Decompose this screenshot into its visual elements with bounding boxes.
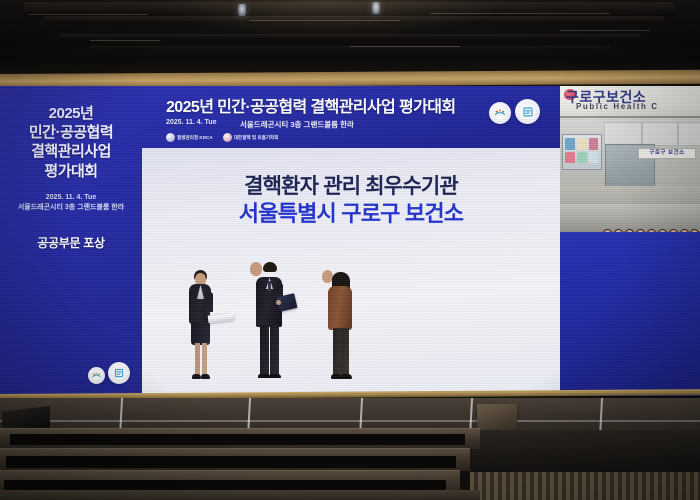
- hair: [263, 262, 277, 272]
- emblem-badge-blue-icon: [108, 362, 130, 384]
- emblem-badge-color-icon: [88, 367, 105, 384]
- left-panel-subinfo: 2025. 11. 4. Tue 서울드래곤시티 3층 그랜드볼룸 한라: [0, 193, 142, 214]
- floor-marking-line: [0, 420, 700, 422]
- led-banner-strip: 2025년 민간·공공협력 결핵관리사업 평가대회 2025. 11. 4. T…: [142, 86, 560, 148]
- notice-poster: [577, 138, 587, 150]
- hand: [276, 300, 281, 305]
- leg: [333, 328, 341, 376]
- notice-poster: [565, 138, 575, 150]
- banner-badge-group: [489, 99, 540, 124]
- light-glow: [150, 0, 510, 40]
- rigging-cable: [90, 40, 160, 41]
- led-main-screen: 결핵환자 관리 최우수기관 서울특별시 구로구 보건소: [142, 148, 560, 396]
- health-center-photo: 구로구 보건소: [560, 86, 700, 232]
- emblem-badge-blue-icon: [515, 99, 540, 124]
- shoe: [201, 374, 210, 379]
- emblem-badge-color-icon: [489, 102, 511, 124]
- stage-skirt-drape: [470, 430, 700, 478]
- person-award-presenter: [250, 262, 290, 388]
- wall-panel: [642, 122, 678, 146]
- skirt: [191, 322, 210, 345]
- health-center-signboard: 구로구보건소 Public Health C: [560, 86, 700, 118]
- rigging-cable: [28, 14, 148, 15]
- notice-poster: [589, 152, 598, 163]
- award-recipient-text: 서울특별시 구로구 보건소: [142, 200, 560, 228]
- necktie: [268, 281, 271, 291]
- led-left-panel: 2025년 민간·공공협력 결핵관리사업 평가대회 2025. 11. 4. T…: [0, 86, 142, 396]
- head: [250, 262, 262, 276]
- leg: [270, 325, 279, 376]
- organizer-kdca: 질병관리청 KDCA: [166, 133, 213, 142]
- shoe: [341, 374, 352, 379]
- left-panel-title-line: 2025년: [6, 104, 136, 123]
- left-panel-title-line: 민간·공공협력: [6, 123, 136, 142]
- leg: [341, 328, 349, 376]
- entrance-sub-sign: 구로구 보건소: [638, 148, 696, 159]
- stage-ceremony-scene: 2025년 민간·공공협력 결핵관리사업 평가대회 2025. 11. 4. T…: [0, 0, 700, 500]
- kdca-logo-icon: [166, 133, 175, 142]
- leg: [195, 343, 200, 376]
- shoe: [269, 374, 281, 378]
- notice-poster: [577, 152, 587, 163]
- step-riser-gap: [10, 434, 465, 445]
- award-category-text: 결핵환자 관리 최우수기관: [142, 174, 560, 199]
- floor-grating: [470, 472, 700, 500]
- organizer-label: 질병관리청 KDCA: [177, 135, 213, 140]
- left-panel-title: 2025년 민간·공공협력 결핵관리사업 평가대회: [0, 104, 142, 181]
- notice-poster: [565, 152, 575, 163]
- banner-venue: 서울드래곤시티 3층 그랜드볼룸 한라: [240, 119, 354, 130]
- ktrs-logo-icon: [223, 133, 232, 142]
- left-panel-badge-group: [88, 362, 130, 384]
- organizer-label: 대한결핵 및 호흡기학회: [234, 135, 279, 140]
- ceiling: [0, 0, 700, 62]
- organizer-ktrs: 대한결핵 및 호흡기학회: [223, 133, 279, 142]
- leg: [260, 325, 269, 376]
- left-panel-title-line: 결핵관리사업: [6, 142, 136, 161]
- equipment-case: [477, 404, 517, 430]
- left-panel-venue: 서울드래곤시티 3층 그랜드볼룸 한라: [4, 203, 138, 214]
- rigging-cable: [560, 30, 650, 31]
- person-award-recipient: [322, 270, 358, 388]
- signboard-english-text: Public Health C: [576, 102, 659, 111]
- led-video-wall: 2025년 민간·공공협력 결핵관리사업 평가대회 2025. 11. 4. T…: [0, 86, 700, 396]
- right-panel-blue-fill: [560, 232, 700, 396]
- entrance-steps: [560, 204, 700, 232]
- banner-title: 2025년 민간·공공협력 결핵관리사업 평가대회: [166, 93, 456, 117]
- left-panel-award-section: 공공부문 포상: [0, 234, 142, 251]
- person-presenter-assistant: [182, 270, 218, 386]
- wall-panel: [678, 122, 700, 146]
- left-panel-title-line: 평가대회: [6, 162, 136, 181]
- leg: [202, 343, 207, 376]
- step-riser-gap: [6, 456, 456, 468]
- led-right-panel: 구로구 보건소: [560, 86, 700, 396]
- banner-date: 2025. 11. 4. Tue: [166, 119, 216, 126]
- notice-poster: [589, 138, 598, 150]
- shoe: [192, 374, 201, 379]
- foreground-floor: [0, 490, 480, 500]
- award-announcement: 결핵환자 관리 최우수기관 서울특별시 구로구 보건소: [142, 174, 560, 228]
- wall-panel: [604, 122, 642, 146]
- banner-organizer-logos: 질병관리청 KDCA 대한결핵 및 호흡기학회: [166, 133, 279, 142]
- rigging-cable: [350, 46, 460, 47]
- left-panel-date: 2025. 11. 4. Tue: [4, 193, 138, 204]
- coat: [328, 286, 352, 330]
